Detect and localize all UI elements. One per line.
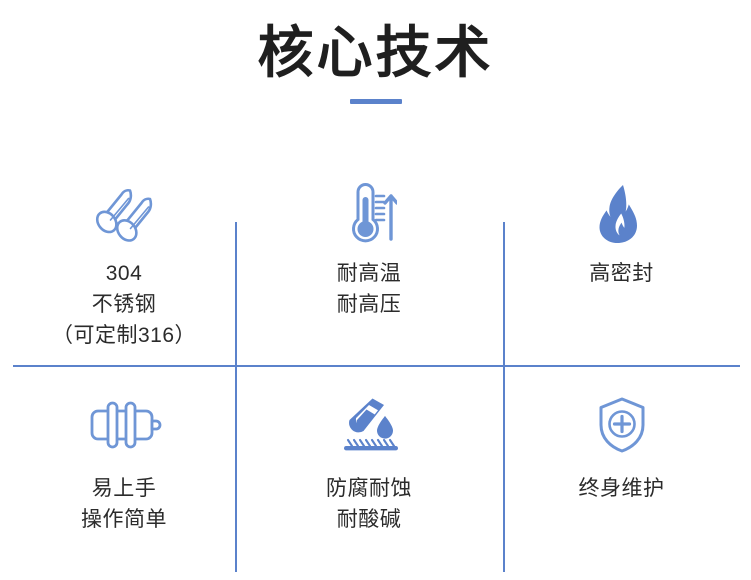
flame-icon (597, 182, 647, 246)
core-technology-page: 核心技术 (0, 0, 751, 580)
shield-plus-icon (595, 393, 649, 457)
feature-label-temperature-pressure: 耐高温 耐高压 (337, 258, 402, 320)
feature-label-line: 耐高温 (337, 258, 402, 289)
feature-label-line: 耐酸碱 (326, 504, 412, 535)
feature-grid: 304 不锈钢 （可定制316） (13, 168, 740, 574)
feature-label-material: 304 不锈钢 （可定制316） (52, 258, 196, 351)
thermometer-arrow-icon (341, 182, 397, 246)
feature-label-line: 高密封 (589, 258, 654, 289)
page-title: 核心技术 (0, 0, 751, 85)
feature-label-ease-of-use: 易上手 操作简单 (81, 473, 167, 535)
feature-cell-temperature-pressure: 耐高温 耐高压 (235, 168, 503, 365)
feature-cell-lifetime-maintenance: 终身维护 (503, 365, 740, 574)
feature-cell-corrosion-resistance: 防腐耐蚀 耐酸碱 (235, 365, 503, 574)
feature-label-line: 易上手 (81, 473, 167, 504)
feature-label-line: 操作简单 (81, 504, 167, 535)
feature-label-corrosion-resistance: 防腐耐蚀 耐酸碱 (326, 473, 412, 535)
feature-label-line: 终身维护 (579, 473, 665, 504)
feature-cell-sealing: 高密封 (503, 168, 740, 365)
steel-bars-icon (93, 182, 155, 246)
grid-vertical-divider-left (235, 222, 237, 572)
feature-label-line: 不锈钢 (52, 289, 196, 320)
feature-label-sealing: 高密封 (589, 258, 654, 289)
pipe-coupling-icon (86, 393, 162, 457)
feature-label-line: 防腐耐蚀 (326, 473, 412, 504)
grid-horizontal-divider (13, 365, 740, 367)
page-header: 核心技术 (0, 0, 751, 150)
test-tube-drop-icon (336, 393, 402, 457)
grid-vertical-divider-right (503, 222, 505, 572)
title-underline-divider (350, 99, 402, 104)
feature-label-line: （可定制316） (52, 320, 196, 351)
feature-label-lifetime-maintenance: 终身维护 (579, 473, 665, 504)
feature-cell-material: 304 不锈钢 （可定制316） (13, 168, 235, 365)
feature-label-line: 耐高压 (337, 289, 402, 320)
feature-label-line: 304 (52, 258, 196, 289)
feature-cell-ease-of-use: 易上手 操作简单 (13, 365, 235, 574)
